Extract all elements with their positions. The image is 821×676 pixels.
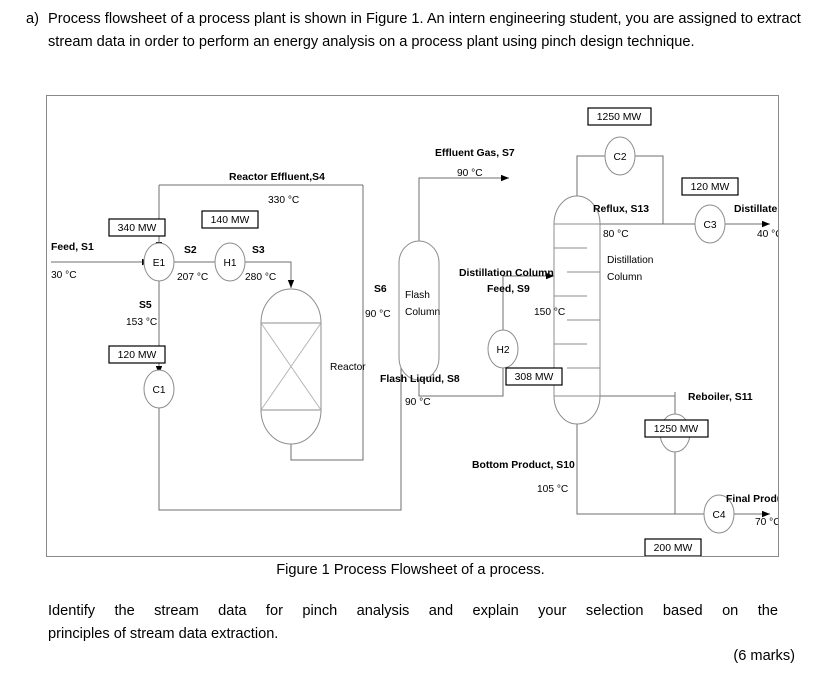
unit-c1[interactable]: C1	[144, 370, 174, 408]
duty-c1-value: 120 MW	[118, 350, 157, 361]
label-s10: Bottom Product, S10	[472, 460, 575, 471]
unit-h1[interactable]: H1	[215, 243, 245, 281]
question-page: a) Process flowsheet of a process plant …	[0, 0, 821, 676]
duty-c3: 120 MW	[682, 178, 738, 195]
unit-c3[interactable]: C3	[695, 205, 725, 243]
question-marker: a)	[26, 8, 48, 31]
unit-h2[interactable]: H2	[488, 330, 518, 368]
label-s11: Reboiler, S11	[688, 392, 753, 403]
unit-h1-tag: H1	[223, 258, 236, 269]
duty-e1-value: 340 MW	[118, 223, 157, 234]
label-s4: Reactor Effluent,S4	[229, 172, 325, 183]
duty-c2-value: 1250 MW	[597, 112, 642, 123]
duty-h1-value: 140 MW	[211, 215, 250, 226]
unit-c3-tag: C3	[703, 220, 716, 231]
temp-s7: 90 °C	[457, 168, 483, 179]
label-s3: S3	[252, 245, 265, 256]
temp-s6: 90 °C	[365, 309, 391, 320]
process-flowsheet-svg: Reactor Flash Column Distillation	[47, 96, 778, 556]
duty-c2: 1250 MW	[588, 108, 651, 125]
unit-c2[interactable]: C2	[605, 137, 635, 175]
label-s13: Reflux, S13	[593, 204, 649, 215]
reactor-vessel: Reactor	[261, 289, 366, 444]
figure-frame: Reactor Flash Column Distillation	[46, 95, 779, 557]
question-tail: Identify the stream data for pinch analy…	[48, 600, 778, 645]
unit-c2-tag: C2	[613, 152, 626, 163]
duty-h3: 1250 MW	[645, 420, 708, 437]
duty-c1: 120 MW	[109, 346, 165, 363]
flash-column-label-line1: Flash	[405, 290, 430, 301]
label-s9-line2: Feed, S9	[487, 284, 530, 295]
label-s7: Effluent Gas, S7	[435, 148, 515, 159]
label-s6: S6	[374, 284, 387, 295]
temp-s1: 30 °C	[51, 270, 77, 281]
label-s14: Distillate, S14	[734, 204, 778, 215]
question-intro-text: Process flowsheet of a process plant is …	[48, 8, 804, 53]
duty-h1: 140 MW	[202, 211, 258, 228]
unit-e1[interactable]: E1	[144, 243, 174, 281]
unit-h2-tag: H2	[496, 345, 509, 356]
temp-s3: 280 °C	[245, 272, 276, 283]
temp-s5: 153 °C	[126, 317, 157, 328]
distillation-column-label-line1: Distillation	[607, 255, 653, 266]
question-intro: a) Process flowsheet of a process plant …	[26, 8, 804, 53]
temp-s4: 330 °C	[268, 195, 299, 206]
temp-s2: 207 °C	[177, 272, 208, 283]
figure-caption: Figure 1 Process Flowsheet of a process.	[0, 562, 821, 578]
duty-h3-value: 1250 MW	[654, 424, 699, 435]
temp-s12: 70 °C	[755, 517, 778, 528]
label-s12: Final Product, S12	[726, 494, 778, 505]
temp-s8: 90 °C	[405, 397, 431, 408]
question-tail-line1: Identify the stream data for pinch analy…	[48, 600, 778, 623]
unit-e1-tag: E1	[153, 258, 166, 269]
label-s1: Feed, S1	[51, 242, 94, 253]
duty-e1: 340 MW	[109, 219, 165, 236]
temp-s14: 40 °C	[757, 229, 778, 240]
temp-s10: 105 °C	[537, 484, 568, 495]
distillation-column-label-line2: Column	[607, 272, 642, 283]
temp-s13: 80 °C	[603, 229, 629, 240]
duty-c3-value: 120 MW	[691, 182, 730, 193]
temp-s9: 150 °C	[534, 307, 565, 318]
reactor-label: Reactor	[330, 362, 366, 373]
label-s5: S5	[139, 300, 152, 311]
question-tail-line2: principles of stream data extraction.	[48, 623, 778, 646]
marks-label: (6 marks)	[0, 648, 795, 664]
duty-c4: 200 MW	[645, 539, 701, 556]
question-intro-body: Process flowsheet of a process plant is …	[48, 8, 804, 53]
duty-h2-value: 308 MW	[515, 372, 554, 383]
duty-c4-value: 200 MW	[654, 543, 693, 554]
flash-column-label-line2: Column	[405, 307, 440, 318]
label-s8: Flash Liquid, S8	[380, 374, 460, 385]
label-s2: S2	[184, 245, 197, 256]
unit-c4-tag: C4	[712, 510, 725, 521]
unit-c1-tag: C1	[152, 385, 165, 396]
label-s9-line1: Distillation Column	[459, 268, 554, 279]
duty-h2: 308 MW	[506, 368, 562, 385]
flash-column-vessel: Flash Column	[399, 241, 440, 380]
